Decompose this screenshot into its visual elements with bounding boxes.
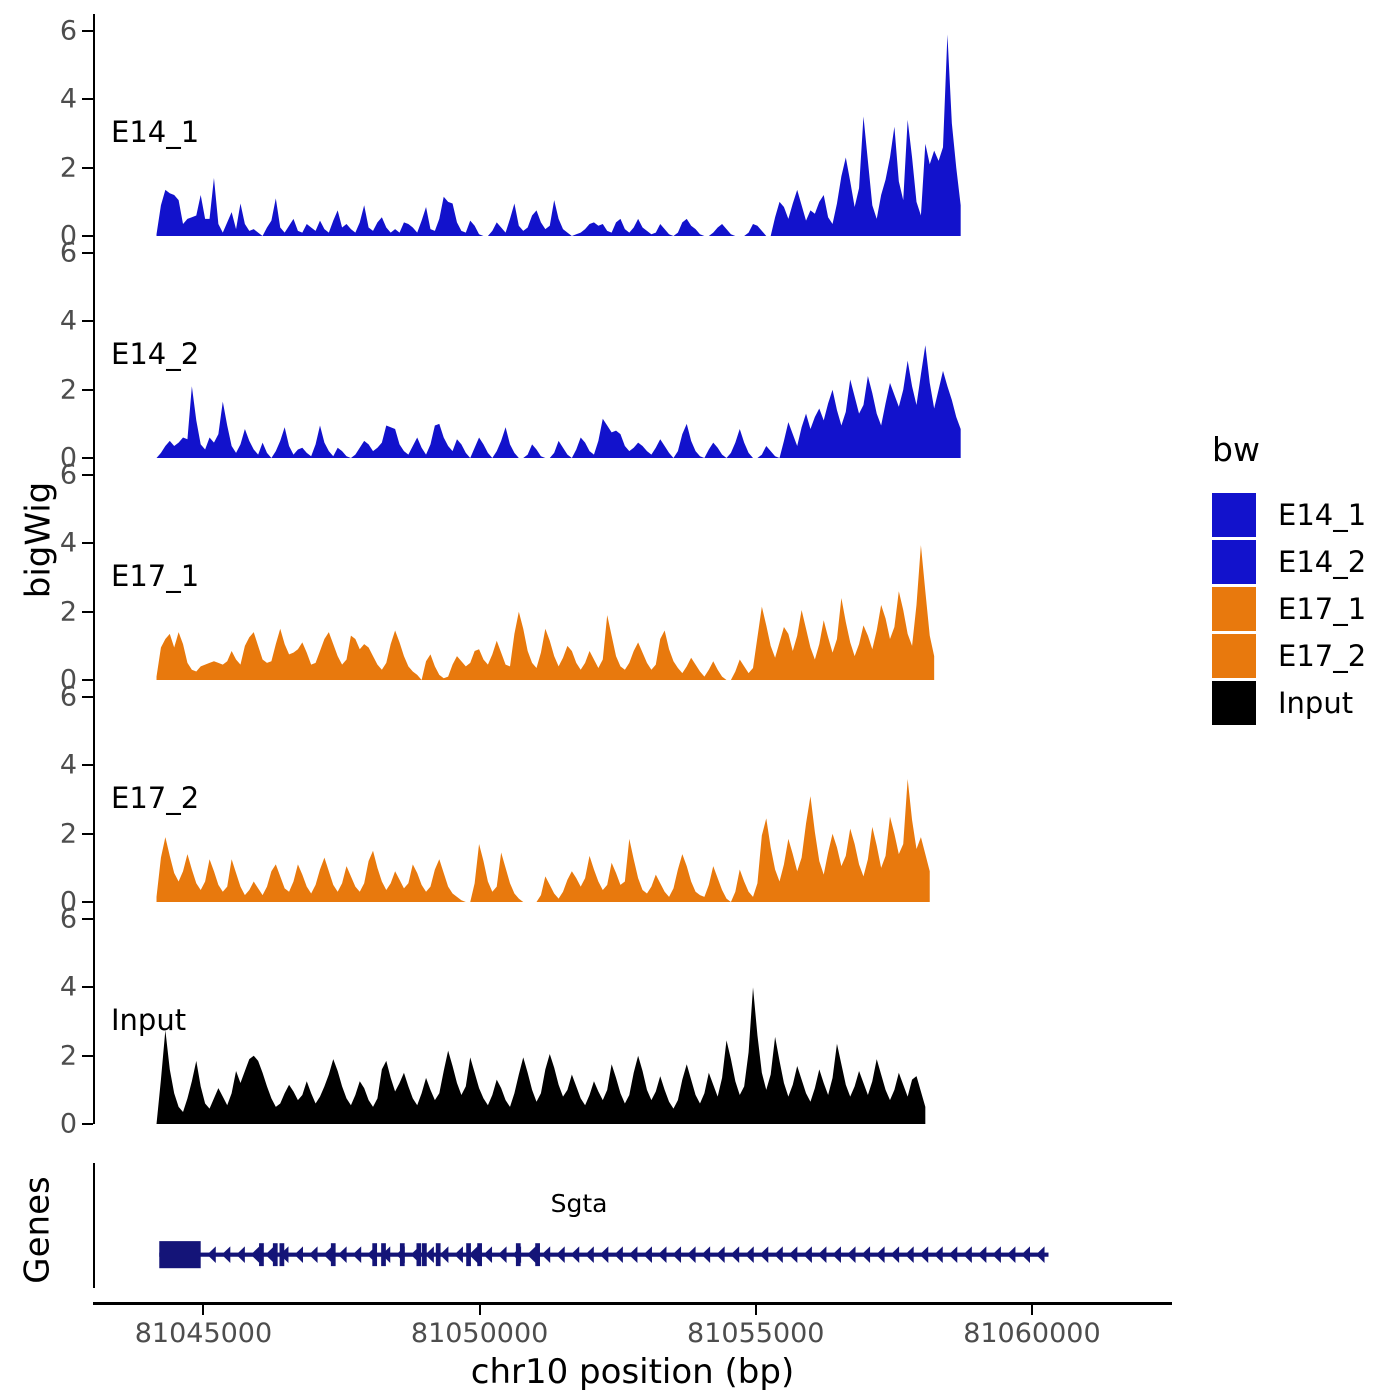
track-panel-input: 0246Input	[93, 902, 1170, 1124]
y-tick	[82, 235, 93, 237]
y-tick-label: 2	[60, 1040, 77, 1071]
y-tick	[82, 1055, 93, 1057]
y-tick-label: 4	[60, 306, 77, 337]
y-tick-label: 4	[60, 750, 77, 781]
y-tick	[82, 252, 93, 254]
legend-label: E17_2	[1278, 639, 1366, 673]
gene-name-label: Sgta	[551, 1189, 608, 1218]
legend-item-e17_1[interactable]: E17_1	[1212, 585, 1392, 632]
y-tick-label: 4	[60, 972, 77, 1003]
y-tick	[82, 30, 93, 32]
track-panel-e14_1: 0246E14_1	[93, 14, 1170, 236]
legend-title: bw	[1212, 430, 1392, 469]
signal-area-e17_2	[93, 680, 1170, 902]
legend-item-e14_2[interactable]: E14_2	[1212, 538, 1392, 585]
signal-area-input	[93, 902, 1170, 1124]
legend-swatch-e14_1	[1212, 493, 1256, 537]
signal-area-e17_1	[93, 458, 1170, 680]
legend-label: E14_2	[1278, 545, 1366, 579]
track-panel-e17_1: 0246E17_1	[93, 458, 1170, 680]
gene-track-panel: Sgta	[93, 1163, 1170, 1288]
y-tick-label: 2	[60, 374, 77, 405]
y-tick-label: 2	[60, 152, 77, 183]
y-tick	[82, 320, 93, 322]
genes-strip-label: Genes	[18, 1176, 58, 1283]
genome-browser-figure: bigWig Genes 0246E14_10246E14_20246E17_1…	[0, 0, 1400, 1400]
track-panel-e14_2: 0246E14_2	[93, 236, 1170, 458]
genes-strip-title: Genes	[8, 1160, 68, 1300]
track-panel-e17_2: 0246E17_2	[93, 680, 1170, 902]
legend-item-input[interactable]: Input	[1212, 679, 1392, 726]
y-tick-label: 4	[60, 84, 77, 115]
legend-label: Input	[1278, 686, 1353, 720]
legend-swatch-e17_1	[1212, 587, 1256, 631]
signal-area-e14_1	[93, 14, 1170, 236]
legend-item-e17_2[interactable]: E17_2	[1212, 632, 1392, 679]
y-tick-label: 6	[60, 904, 77, 935]
y-tick	[82, 611, 93, 613]
y-axis-title-label: bigWig	[18, 482, 58, 599]
y-tick	[82, 542, 93, 544]
x-axis-line	[93, 1302, 1172, 1305]
x-tick-label: 81045000	[135, 1318, 272, 1349]
y-tick	[82, 474, 93, 476]
y-tick	[82, 98, 93, 100]
x-tick	[1031, 1305, 1033, 1315]
x-axis-title: chr10 position (bp)	[93, 1352, 1172, 1392]
legend-swatch-input	[1212, 681, 1256, 725]
legend-items: E14_1E14_2E17_1E17_2Input	[1212, 491, 1392, 726]
y-tick-label: 6	[60, 682, 77, 713]
x-tick	[479, 1305, 481, 1315]
y-tick	[82, 918, 93, 920]
legend-label: E17_1	[1278, 592, 1366, 626]
x-tick-label: 81060000	[963, 1318, 1100, 1349]
y-tick	[82, 167, 93, 169]
y-tick-label: 6	[60, 460, 77, 491]
legend-swatch-e17_2	[1212, 634, 1256, 678]
x-tick-label: 81055000	[687, 1318, 824, 1349]
signal-area-e14_2	[93, 236, 1170, 458]
y-tick	[82, 764, 93, 766]
y-tick	[82, 986, 93, 988]
y-tick-label: 4	[60, 528, 77, 559]
gene-track-area	[93, 1163, 1170, 1288]
legend-swatch-e14_2	[1212, 540, 1256, 584]
y-tick	[82, 901, 93, 903]
y-tick-label: 0	[60, 1109, 77, 1140]
y-tick	[82, 696, 93, 698]
legend: bw E14_1E14_2E17_1E17_2Input	[1212, 430, 1392, 726]
y-tick-label: 2	[60, 596, 77, 627]
legend-item-e14_1[interactable]: E14_1	[1212, 491, 1392, 538]
legend-label: E14_1	[1278, 498, 1366, 532]
y-tick-label: 6	[60, 16, 77, 47]
y-tick-label: 6	[60, 238, 77, 269]
y-tick	[82, 457, 93, 459]
y-tick	[82, 679, 93, 681]
x-tick	[755, 1305, 757, 1315]
y-tick-label: 2	[60, 818, 77, 849]
y-tick	[82, 389, 93, 391]
y-tick	[82, 833, 93, 835]
x-tick-label: 81050000	[411, 1318, 548, 1349]
x-tick	[202, 1305, 204, 1315]
y-tick	[82, 1123, 93, 1125]
